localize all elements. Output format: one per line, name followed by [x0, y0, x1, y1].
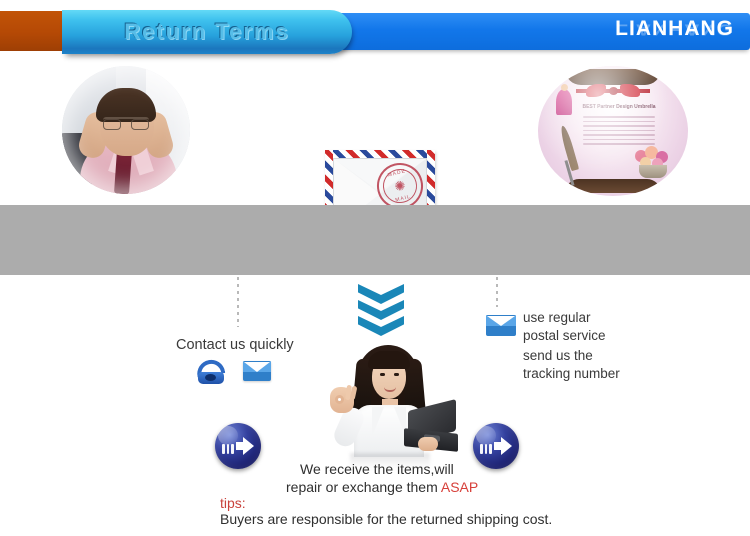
support-agent-with-laptop-photo [320, 345, 460, 457]
agent-eye-right [394, 373, 399, 376]
tracking-note-line-2: tracking number [523, 366, 620, 381]
photo-vignette [62, 66, 190, 194]
page-header: Return Terms LIANHANG LIANHANG [0, 0, 750, 62]
postmark-star-icon: ✺ [393, 178, 407, 193]
telephone-dial [205, 374, 216, 381]
postal-service-note: use regular postal service [523, 309, 606, 345]
dotted-connector-right [496, 277, 498, 307]
step-1-line-2: with your purchase [48, 446, 161, 461]
tracking-number-note: send us the tracking number [523, 347, 620, 383]
illustration-row: MADE ✺ MAIL BEST Partner Design Umbrella [0, 62, 750, 202]
arrow-glyph-1 [222, 437, 254, 455]
return-terms-banner: Return Terms LIANHANG LIANHANG [0, 0, 750, 536]
outcome-asap-highlight: ASAP [441, 479, 478, 495]
brand-logo-reflection: LIANHANG [615, 20, 734, 38]
dotted-connector-left [237, 277, 239, 327]
agent-eye-left [380, 373, 385, 376]
decorative-gift-card-image: BEST Partner Design Umbrella [538, 66, 688, 196]
arrow-right-icon-2 [473, 423, 519, 469]
arrow-right-icon-1 [215, 423, 261, 469]
step-3-line-1: Write "gift" on the delivery [553, 428, 707, 443]
header-title-tab: Return Terms [62, 10, 352, 54]
arrow-motion-bars-2 [480, 441, 494, 459]
airmail-stripe-top [325, 150, 435, 158]
arrow-head-2 [501, 437, 512, 455]
telephone-icon [196, 360, 226, 384]
chevron-1 [358, 284, 404, 304]
contact-us-label: Contact us quickly [176, 337, 294, 353]
arrow-motion-bars-1 [222, 441, 236, 459]
tips-label: tips: [220, 495, 246, 511]
postal-note-line-1: use regular [523, 310, 591, 325]
outcome-line-2-prefix: repair or exchange them [286, 479, 441, 495]
outcome-line-2: repair or exchange them ASAP [286, 478, 478, 496]
step-1-line-1: If you are not satisfied [48, 428, 180, 443]
outcome-line-1: We receive the items,will [300, 460, 454, 478]
arrow-head-1 [243, 437, 254, 455]
step-3-text: Write "gift" on the delivery details she… [553, 427, 707, 463]
step-1-text: If you are not satisfied with your purch… [48, 427, 180, 463]
tips-text: Buyers are responsible for the returned … [220, 511, 552, 527]
process-steps-band: If you are not satisfied with your purch… [0, 205, 750, 275]
envelope-icon-postal [486, 315, 516, 336]
page-title: Return Terms [62, 10, 352, 54]
envelope-icon-contact [243, 361, 271, 381]
agent-ok-gesture-ring [335, 395, 344, 404]
arrow-glyph-2 [480, 437, 512, 455]
frustrated-customer-photo [62, 66, 190, 194]
chevron-down-icon [358, 284, 404, 340]
tracking-note-line-1: send us the [523, 348, 593, 363]
step-3-line-2: details sheet,send items [553, 446, 698, 461]
agent-fringe [368, 351, 410, 369]
agent-lapel-left [372, 407, 384, 437]
postal-note-line-2: postal service [523, 328, 606, 343]
card-gloss-overlay [538, 66, 688, 196]
agent-hand-right [418, 437, 438, 451]
